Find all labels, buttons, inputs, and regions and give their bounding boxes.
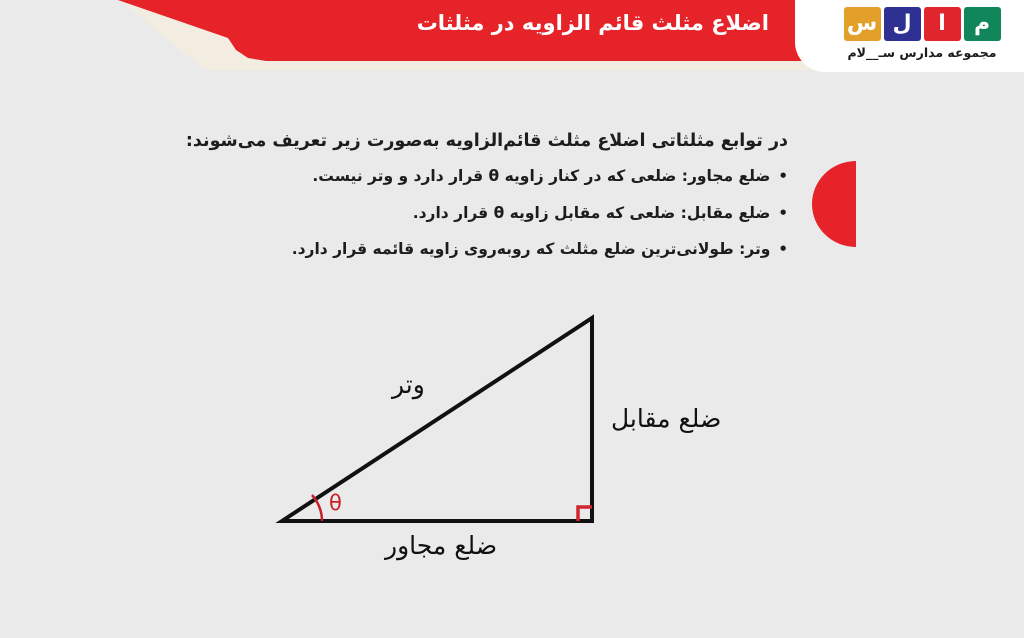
adjacent-side-label: ضلع مجاور bbox=[385, 531, 497, 560]
logo-square-mim: م bbox=[964, 7, 1001, 41]
intro-paragraph: در توابع مثلثاتی اضلاع مثلث قائم‌الزاویه… bbox=[228, 128, 788, 154]
logo-subtitle: مجموعه مدارس سـ__لام bbox=[836, 45, 1008, 60]
hypotenuse-label: وتر bbox=[392, 370, 425, 399]
right-triangle-diagram bbox=[0, 0, 1024, 638]
theta-angle-arc bbox=[312, 495, 322, 521]
theta-angle-label: θ bbox=[329, 491, 342, 515]
definition-list: ضلع مجاور: ضلعی که در کنار زاویه θ قرار … bbox=[228, 164, 788, 261]
logo-square-alef: ا bbox=[924, 7, 961, 41]
lesson-content: در توابع مثلثاتی اضلاع مثلث قائم‌الزاویه… bbox=[228, 128, 788, 273]
page-header: اضلاع مثلث قائم الزاویه در مثلثات م ا ل … bbox=[0, 0, 1024, 80]
list-item-opposite: ضلع مقابل: ضلعی که مقابل زاویه θ قرار دا… bbox=[228, 201, 788, 225]
decorative-leaf-shape bbox=[812, 161, 856, 247]
logo-square-sin: س bbox=[844, 7, 881, 41]
right-angle-marker bbox=[578, 507, 592, 521]
list-item-hypotenuse: وتر: طولانی‌ترین ضلع مثلث که روبه‌روی زا… bbox=[228, 237, 788, 261]
brand-logo[interactable]: م ا ل س مجموعه مدارس سـ__لام bbox=[836, 7, 1008, 69]
list-item-adjacent: ضلع مجاور: ضلعی که در کنار زاویه θ قرار … bbox=[228, 164, 788, 188]
logo-square-lam: ل bbox=[884, 7, 921, 41]
page-title: اضلاع مثلث قائم الزاویه در مثلثات bbox=[417, 11, 769, 35]
logo-letter-squares: م ا ل س bbox=[836, 7, 1008, 41]
opposite-side-label: ضلع مقابل bbox=[611, 404, 721, 433]
